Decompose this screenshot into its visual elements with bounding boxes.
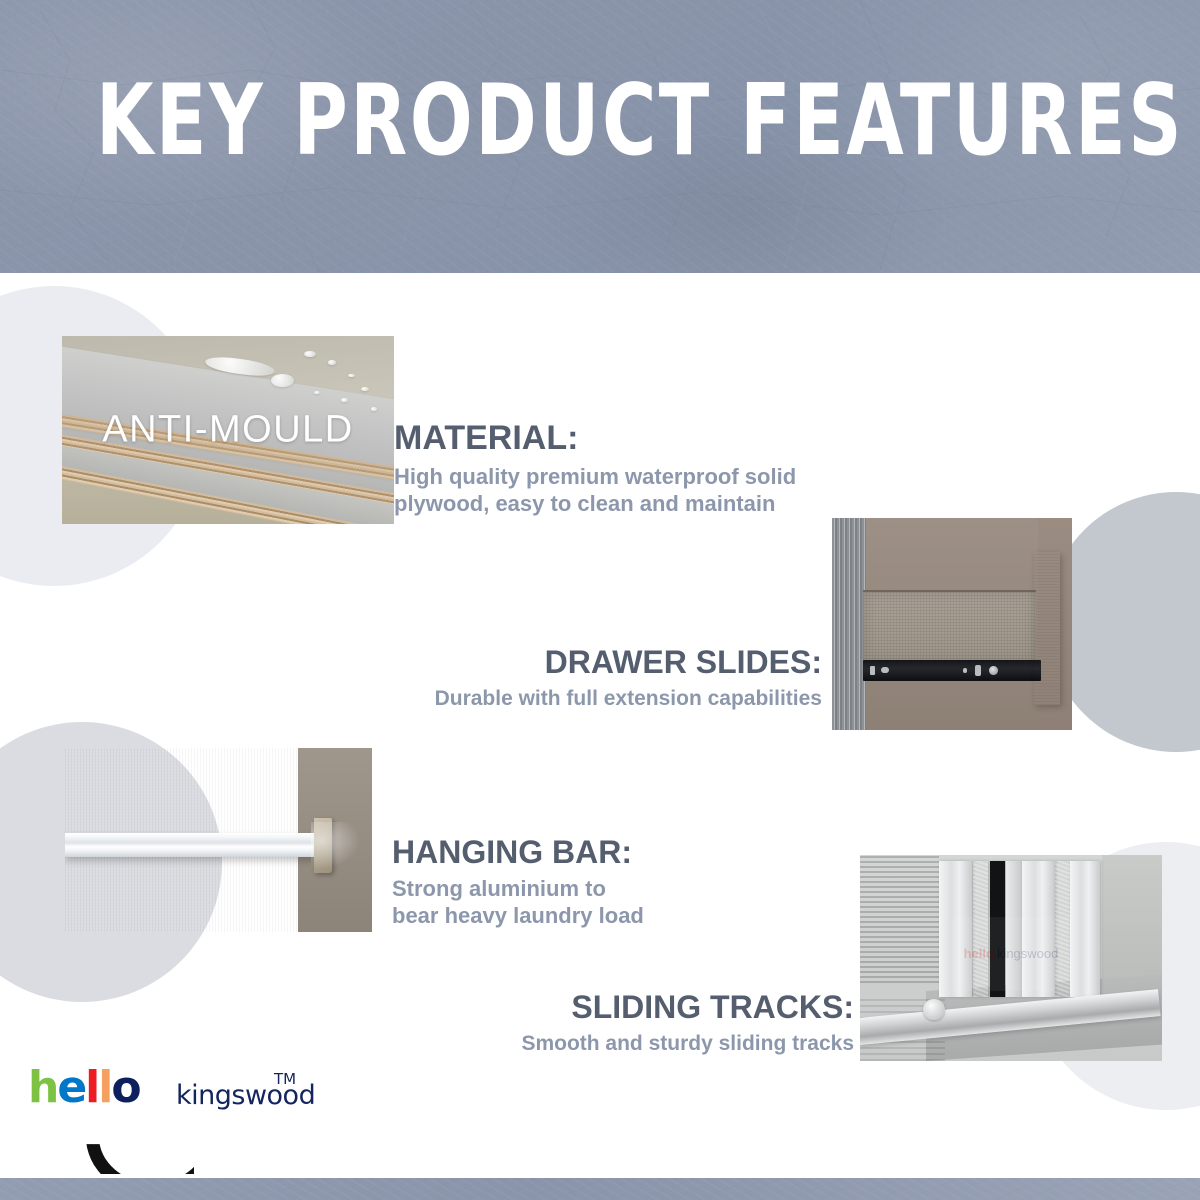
feature-heading-sliding-tracks: SLIDING TRACKS: [436, 991, 854, 1024]
water-droplet-small [328, 360, 337, 365]
background-wall [860, 855, 939, 983]
aluminium-hanging-bar [65, 833, 320, 857]
anti-mould-overlay-label: ANTI-MOULD [62, 409, 394, 452]
feature-body-line: plywood, easy to clean and maintain [394, 491, 834, 518]
logo-letter-e: e [57, 1068, 85, 1108]
feature-text-sliding-tracks: SLIDING TRACKS: Smooth and sturdy slidin… [436, 991, 854, 1057]
feature-text-material: MATERIAL: High quality premium waterproo… [394, 421, 834, 518]
feature-body-line: bear heavy laundry load [392, 903, 812, 930]
header-banner: KEY PRODUCT FEATURES [0, 0, 1200, 273]
watermark-hello: hello [964, 946, 994, 961]
water-droplet-small [314, 391, 320, 394]
drawer-box [863, 590, 1036, 662]
plywood-sheets-photo: ANTI-MOULD [62, 336, 394, 524]
rail-detail [975, 665, 981, 676]
footer-banner [0, 1178, 1200, 1200]
brand-logo[interactable]: h e l l o kingswood TM [28, 1068, 298, 1158]
logo-letter-l2: l [98, 1068, 111, 1108]
logo-wordmark: h e l l o [28, 1068, 140, 1108]
rail-screw [989, 666, 998, 676]
drawer-slide-photo [832, 518, 1072, 730]
drawer-front-panel [1034, 552, 1060, 705]
drawer-slide-rail [863, 660, 1041, 681]
door-roller-wheel [923, 999, 944, 1020]
feature-body-hanging-bar: Strong aluminium to bear heavy laundry l… [392, 876, 812, 930]
watermark-kingswood: kingswood [997, 946, 1058, 961]
feature-body-material: High quality premium waterproof solid pl… [394, 464, 834, 518]
rail-detail [870, 666, 874, 675]
water-droplet-small [304, 351, 315, 357]
footer-texture-noise [0, 1178, 1200, 1200]
cabinet-side-wall [832, 518, 866, 730]
photo-watermark: hello kingswood [951, 917, 1072, 991]
logo-letter-h: h [28, 1068, 57, 1108]
bracket-highlight [311, 822, 360, 870]
water-droplet-small [348, 374, 355, 378]
feature-body-line: High quality premium waterproof solid [394, 464, 834, 491]
logo-letter-o: o [111, 1068, 139, 1108]
sliding-track-photo: hello kingswood [860, 855, 1162, 1061]
water-droplet-medium [271, 374, 294, 387]
feature-body-drawer-slides: Durable with full extension capabilities [376, 686, 822, 712]
feature-text-hanging-bar: HANGING BAR: Strong aluminium to bear he… [392, 836, 812, 930]
rail-detail [963, 668, 968, 673]
water-droplet-small [341, 398, 348, 402]
feature-text-drawer-slides: DRAWER SLIDES: Durable with full extensi… [376, 646, 822, 712]
logo-letter-l1: l [85, 1068, 98, 1108]
feature-heading-material: MATERIAL: [394, 421, 834, 456]
water-droplet-small [361, 387, 370, 392]
feature-body-sliding-tracks: Smooth and sturdy sliding tracks [436, 1031, 854, 1057]
rail-detail [881, 667, 889, 673]
page-title: KEY PRODUCT FEATURES [96, 72, 1104, 170]
door-slat [1070, 861, 1100, 997]
hanging-bar-photo [65, 748, 372, 932]
feature-heading-drawer-slides: DRAWER SLIDES: [376, 646, 822, 679]
feature-heading-hanging-bar: HANGING BAR: [392, 836, 812, 869]
feature-body-line: Strong aluminium to [392, 876, 812, 903]
trademark-symbol: TM [274, 1070, 296, 1088]
logo-smile-icon [86, 1122, 194, 1174]
